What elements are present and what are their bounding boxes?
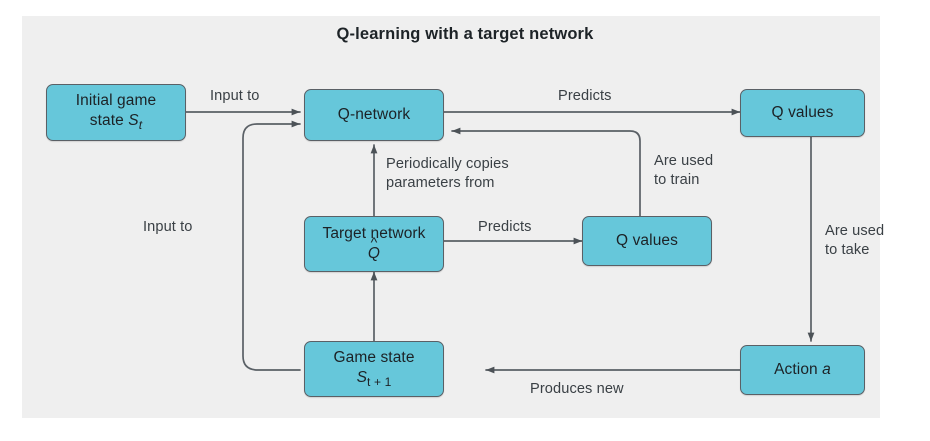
edge-label-are-used-to-train: Are used to train [654, 152, 713, 191]
initial-state-line1: Initial game [76, 92, 156, 109]
node-initial-game-state[interactable]: Initial game state St [46, 84, 186, 141]
target-network-symbol-wrap: ^Q [368, 244, 380, 264]
q-network-label: Q-network [338, 106, 410, 123]
node-q-network[interactable]: Q-network [304, 89, 444, 141]
edge-label-input-to-top: Input to [210, 87, 259, 106]
game-state-symbol: S [357, 369, 367, 386]
edge-label-periodically-copies: Periodically copies parameters from [386, 155, 509, 194]
q-values-top-label: Q values [772, 104, 834, 121]
node-target-network[interactable]: Target network ^Q [304, 216, 444, 272]
game-state-line1: Game state [333, 349, 414, 366]
diagram-root: Q-learning with a target network [0, 0, 930, 441]
edge-label-predicts-top: Predicts [558, 87, 612, 106]
target-network-hat: ^ [371, 236, 378, 250]
action-label-prefix: Action [774, 361, 822, 378]
node-game-state[interactable]: Game state St + 1 [304, 341, 444, 397]
action-symbol: a [822, 361, 831, 378]
edge-label-predicts-mid: Predicts [478, 218, 532, 237]
initial-state-symbol: S [128, 112, 138, 129]
q-values-mid-label: Q values [616, 232, 678, 249]
node-q-values-mid[interactable]: Q values [582, 216, 712, 266]
figure-title: Q-learning with a target network [0, 25, 930, 44]
node-action[interactable]: Action a [740, 345, 865, 395]
initial-state-line2-prefix: state [90, 112, 129, 129]
edge-label-input-to-left: Input to [143, 218, 192, 237]
game-state-subscript: t + 1 [367, 375, 391, 389]
initial-state-subscript: t [139, 118, 142, 132]
node-q-values-top[interactable]: Q values [740, 89, 865, 137]
edge-label-produces-new: Produces new [530, 380, 624, 399]
edge-label-are-used-to-take: Are used to take [825, 222, 884, 261]
